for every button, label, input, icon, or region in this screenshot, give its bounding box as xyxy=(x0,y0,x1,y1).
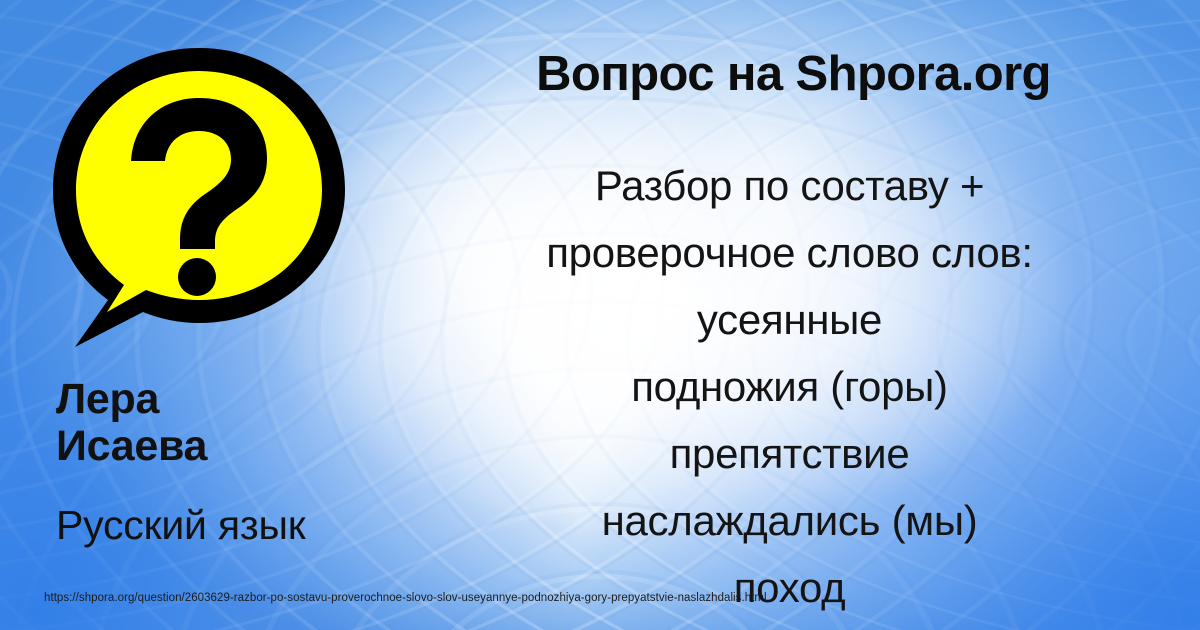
question-line: Разбор по составу + xyxy=(395,152,1184,219)
page-title: Вопрос на Shpora.org xyxy=(395,46,1192,102)
question-line: препятствие xyxy=(395,420,1184,487)
question-line: наслаждались (мы) xyxy=(395,487,1184,554)
question-speech-bubble-icon xyxy=(47,44,357,352)
question-line: подножия (горы) xyxy=(395,353,1184,420)
question-line: поход xyxy=(395,554,1184,621)
question-text: Разбор по составу + проверочное слово сл… xyxy=(395,152,1184,621)
question-line: усеянные xyxy=(395,286,1184,353)
card-content: Лера Исаева Русский язык Вопрос на Shpor… xyxy=(0,0,1200,630)
question-panel: Вопрос на Shpora.org Разбор по составу +… xyxy=(395,0,1200,630)
subject-label: Русский язык xyxy=(0,502,395,548)
author-panel: Лера Исаева Русский язык xyxy=(0,0,395,630)
question-line: проверочное слово слов: xyxy=(395,219,1184,286)
source-url-link[interactable]: https://shpora.org/question/2603629-razb… xyxy=(44,591,767,605)
question-share-card: Лера Исаева Русский язык Вопрос на Shpor… xyxy=(0,0,1200,630)
author-name: Лера Исаева xyxy=(0,376,395,470)
